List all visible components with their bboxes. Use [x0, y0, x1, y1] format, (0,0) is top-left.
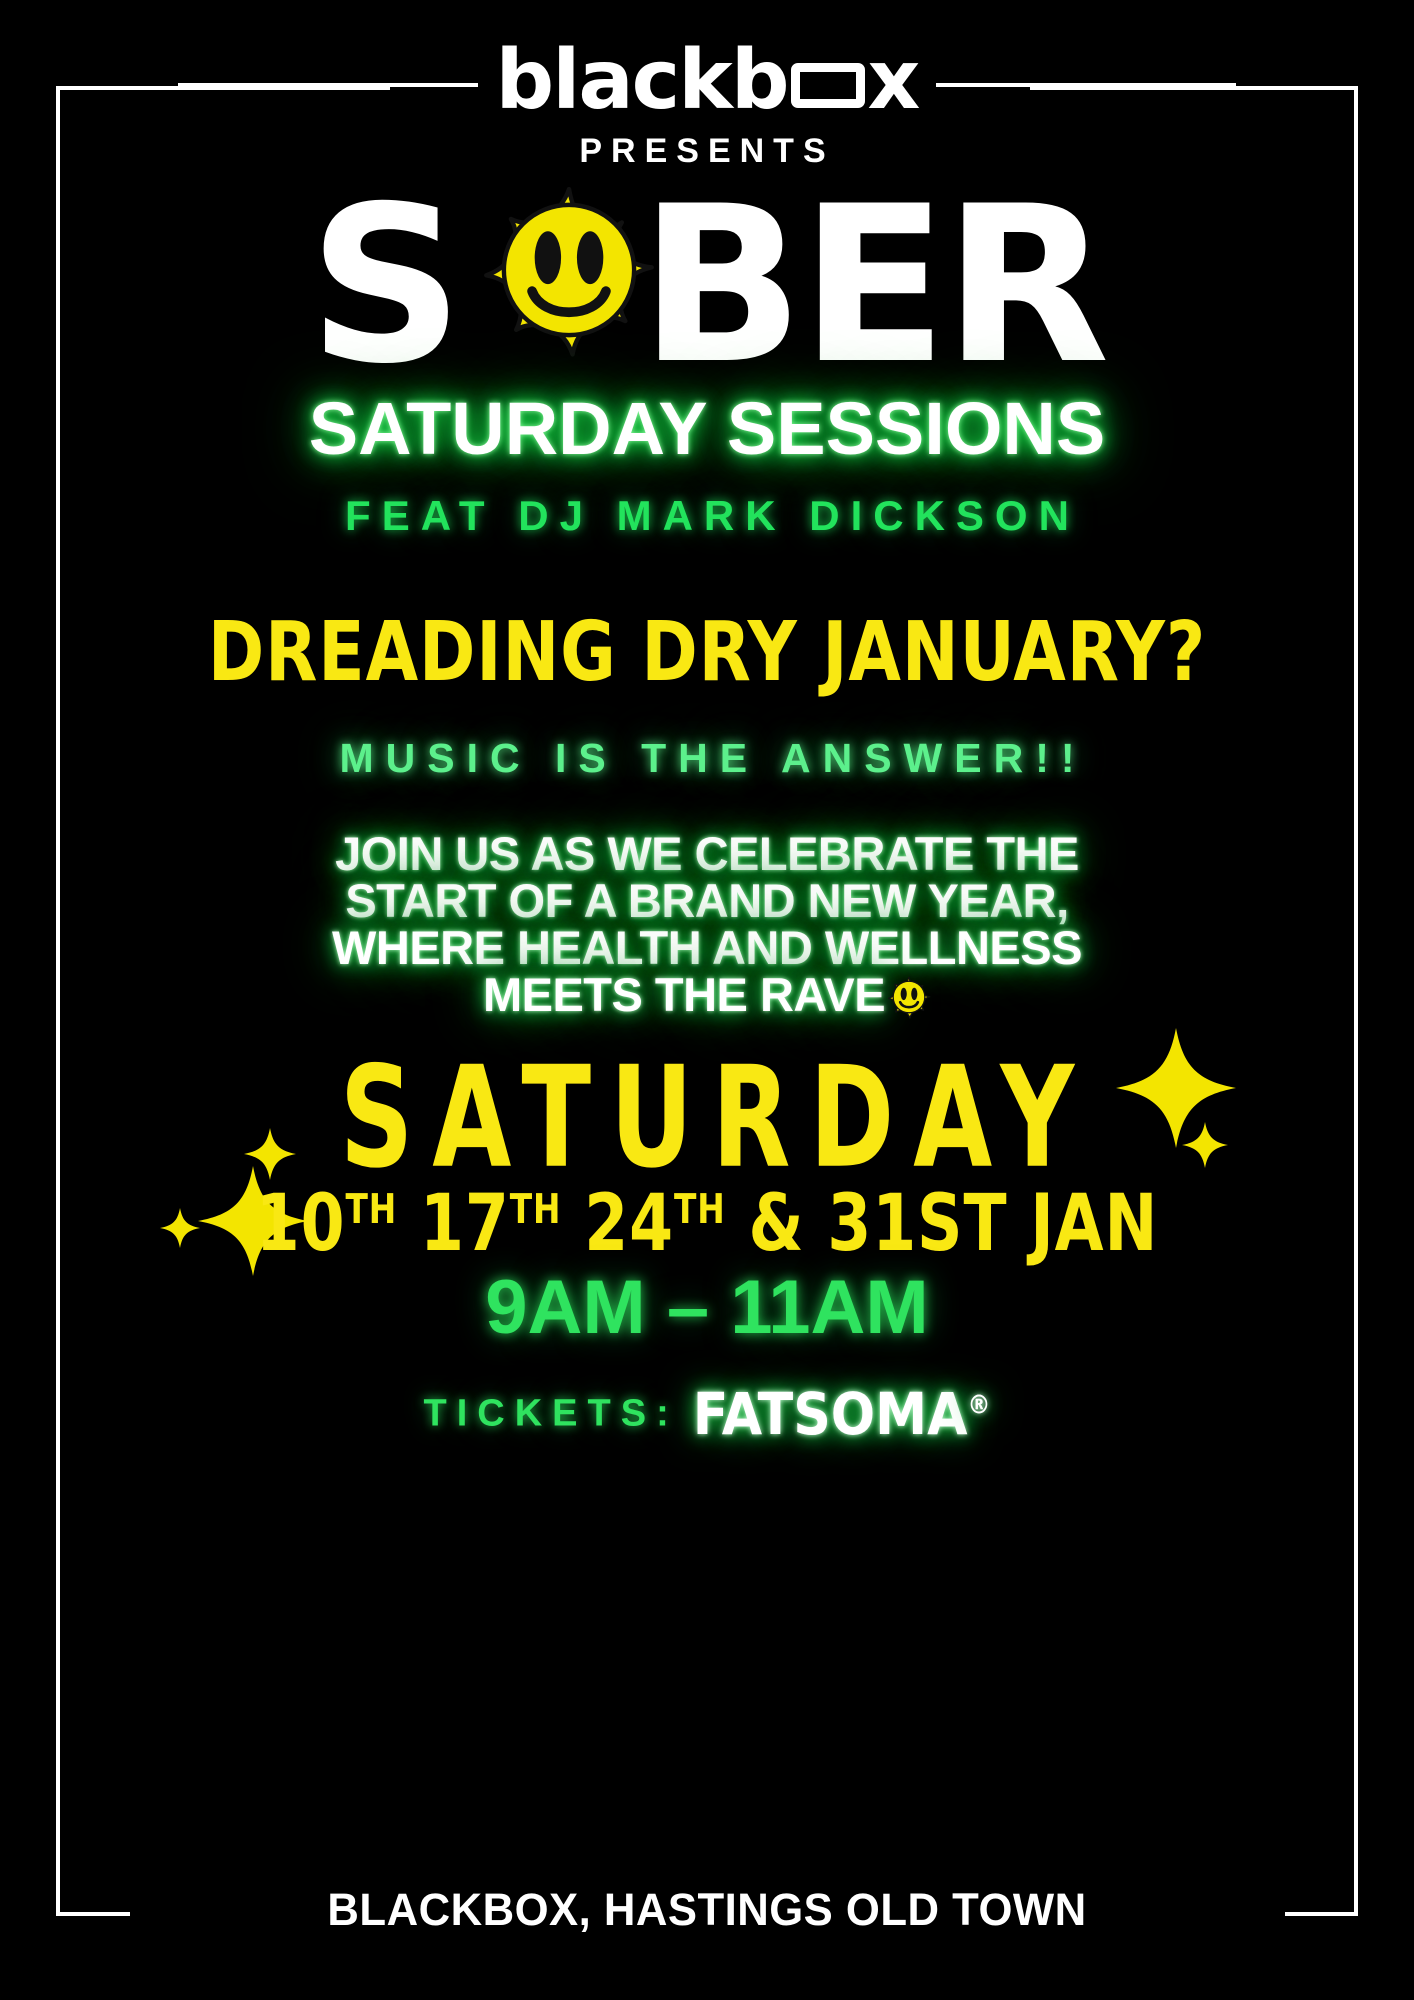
saturday-sessions-subtitle: SATURDAY SESSIONS — [0, 392, 1414, 466]
brand-logo: blackb x — [496, 40, 919, 122]
date-2: 17 — [397, 1179, 510, 1269]
logo-rule-left — [178, 83, 478, 87]
music-is-the-answer-line: MUSIC IS THE ANSWER!! — [0, 738, 1414, 779]
body-copy: JOIN US AS WE CELEBRATE THE START OF A B… — [0, 830, 1414, 1019]
body-copy-line-4: MEETS THE RAVE — [483, 968, 885, 1021]
body-copy-line-4-wrap: MEETS THE RAVE — [0, 971, 1414, 1019]
box-outline-icon — [791, 63, 865, 108]
brand-logo-row: blackb x — [0, 40, 1414, 122]
venue-footer: BLACKBOX, HASTINGS OLD TOWN — [21, 1887, 1393, 1932]
event-day: SATURDAY — [99, 1048, 1315, 1188]
date-1: 10 — [256, 1179, 346, 1269]
event-title-block: SOBER — [0, 178, 1414, 398]
registered-mark-icon: ® — [968, 1391, 991, 1421]
date-3: 24 — [561, 1179, 674, 1269]
dry-january-headline: DREADING DRY JANUARY? — [57, 612, 1358, 694]
fatsoma-logo: FATSOMA® — [693, 1380, 991, 1448]
featured-dj-line: FEAT DJ MARK DICKSON — [0, 495, 1414, 537]
date-1-suffix: TH — [345, 1185, 397, 1233]
poster-header: blackb x PRESENTS — [0, 40, 1414, 171]
date-2-suffix: TH — [510, 1185, 562, 1233]
tickets-label: TICKETS: — [424, 1393, 679, 1435]
poster: blackb x PRESENTS SOBER — [0, 0, 1414, 2000]
event-title: SOBER — [308, 178, 1106, 394]
event-title-part-1: S — [308, 160, 460, 411]
event-times: 9AM – 11AM — [0, 1270, 1414, 1346]
body-copy-line-1: JOIN US AS WE CELEBRATE THE — [0, 830, 1414, 877]
brand-logo-text-right: x — [868, 40, 919, 122]
fatsoma-wordmark: FATSOMA — [693, 1380, 968, 1448]
rave-smiley-icon — [887, 975, 931, 1019]
brand-logo-text-left: blackb — [496, 40, 788, 122]
smiley-face-icon — [481, 182, 657, 358]
body-copy-line-2: START OF A BRAND NEW YEAR, — [0, 877, 1414, 924]
logo-rule-right — [936, 83, 1236, 87]
event-title-part-2: BER — [639, 160, 1106, 411]
date-4: & 31ST JAN — [726, 1179, 1159, 1269]
date-3-suffix: TH — [674, 1185, 726, 1233]
event-dates: 10TH 17TH 24TH & 31ST JAN — [71, 1185, 1344, 1263]
body-copy-line-3: WHERE HEALTH AND WELLNESS — [0, 924, 1414, 971]
tickets-row: TICKETS:FATSOMA® — [0, 1380, 1414, 1448]
